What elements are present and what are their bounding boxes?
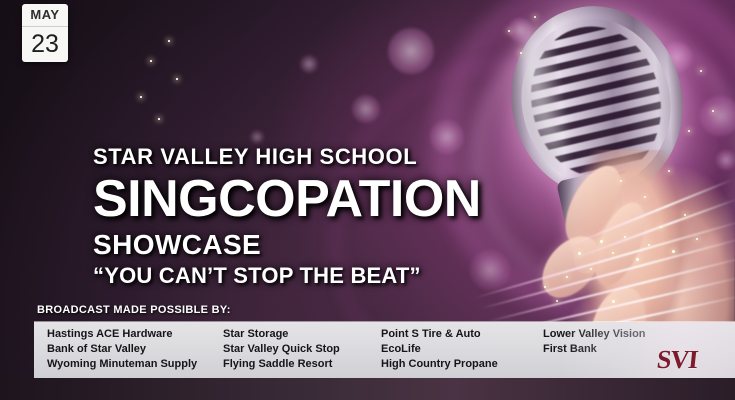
sponsor-column: Lower Valley VisionFirst Bank [543,327,646,357]
headline-block: STAR VALLEY HIGH SCHOOL SINGCOPATION SHO… [93,146,481,287]
sponsor-column: Star StorageStar Valley Quick StopFlying… [223,327,340,372]
sparkle-dot [636,258,639,261]
sparkle-dot [150,60,152,62]
sparkle-dot [158,118,160,120]
sparkle-dot [668,170,670,172]
sponsor-item: EcoLife [381,342,498,357]
sponsor-item: Point S Tire & Auto [381,327,498,342]
sparkle-dot [176,78,178,80]
sponsor-column: Hastings ACE HardwareBank of Star Valley… [47,327,197,372]
sparkle-dot [644,196,646,198]
sparkle-dot [700,70,702,72]
sparkle-dot [578,252,581,255]
sparkle-dot [684,214,686,216]
sparkle-dot [660,226,662,228]
sparkle-dot [566,276,568,278]
pre-title: STAR VALLEY HIGH SCHOOL [93,146,481,168]
sparkle-dot [508,30,510,32]
tagline: “YOU CAN’T STOP THE BEAT” [93,265,481,287]
subtitle: SHOWCASE [93,231,481,259]
sparkle-dot [624,236,626,238]
sparkle-dot [612,300,615,303]
sparkle-dot [544,286,546,288]
sparkle-dot [672,250,675,253]
date-badge-month: MAY [30,4,59,26]
sponsor-item: Bank of Star Valley [47,342,197,357]
sparkle-dot [520,52,522,54]
sparkle-dot [556,300,558,302]
sparkle-dot [712,110,714,112]
sponsor-item: High Country Propane [381,357,498,372]
sponsors-columns: Hastings ACE HardwareBank of Star Valley… [34,322,735,378]
sparkle-dot [600,240,603,243]
sparkle-dot [612,252,614,254]
sponsors-panel: Hastings ACE HardwareBank of Star Valley… [34,322,735,378]
sparkle-dot [620,180,622,182]
sparkle-dot [688,130,690,132]
sponsor-item: Star Storage [223,327,340,342]
sparkle-dot [696,238,698,240]
sponsor-item: Wyoming Minuteman Supply [47,357,197,372]
page-title: SINGCOPATION [93,173,481,226]
sponsor-item: Lower Valley Vision [543,327,646,342]
sponsor-item: Hastings ACE Hardware [47,327,197,342]
sparkle-dot [168,40,170,42]
sponsor-column: Point S Tire & AutoEcoLifeHigh Country P… [381,327,498,372]
sponsor-item: Star Valley Quick Stop [223,342,340,357]
bottom-strip [0,378,735,400]
sponsors-label: BROADCAST MADE POSSIBLE BY: [37,304,231,316]
sponsor-item: First Bank [543,342,646,357]
sparkle-dot [590,268,592,270]
sparkle-dot [648,244,650,246]
sparkle-dot [534,16,536,18]
sparkle-dot [140,96,142,98]
date-badge: MAY 23 [22,4,68,62]
date-badge-day: 23 [31,27,59,62]
sponsor-item: Flying Saddle Resort [223,357,340,372]
promo-poster: MAY 23 STAR VALLEY HIGH SCHOOL SINGCOPAT… [0,0,735,400]
svi-logo: SVI [656,347,699,373]
